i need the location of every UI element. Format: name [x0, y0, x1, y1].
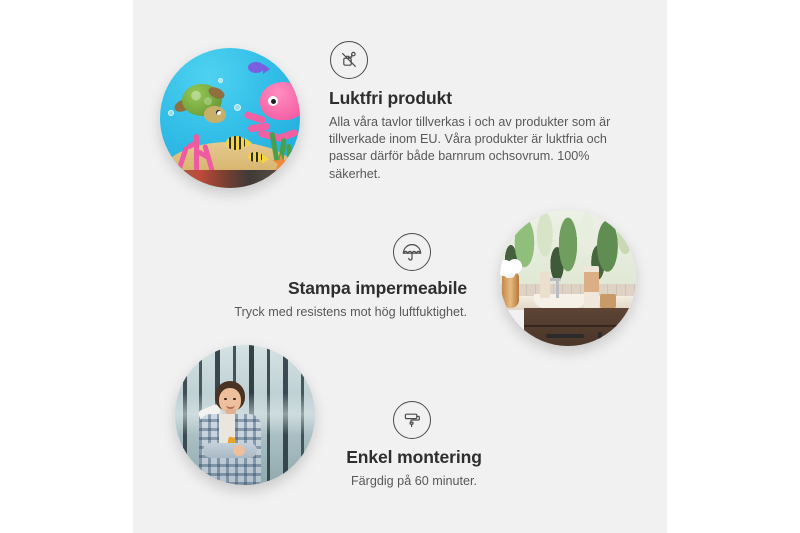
- leaf-wallpaper: [500, 210, 636, 292]
- product-photo-underwater: [160, 48, 300, 188]
- folded-towel: [600, 294, 616, 308]
- feature-odor-free: Luktfri produkt Alla våra tavlor tillver…: [329, 41, 629, 183]
- product-photo-bathroom: [500, 210, 636, 346]
- faucet-icon: [556, 278, 559, 298]
- feature-title: Enkel montering: [309, 447, 519, 468]
- umbrella-icon: [393, 233, 431, 271]
- flowers-icon: [500, 258, 523, 278]
- bathroom-scene: [500, 210, 636, 346]
- feature-easy-mounting: Enkel montering Färgdig på 60 minuter.: [309, 401, 519, 490]
- painter-scene: [175, 345, 315, 485]
- underwater-scene: [160, 48, 300, 188]
- coral-icon: [176, 130, 218, 174]
- feature-title: Luktfri produkt: [329, 88, 629, 109]
- fish-icon: [248, 152, 263, 162]
- bubble-icon: [218, 78, 223, 83]
- feature-waterproof: Stampa impermeabile Tryck med resistens …: [185, 233, 467, 321]
- icon-row: [329, 41, 629, 79]
- fish-icon: [226, 136, 246, 150]
- fish-icon: [248, 62, 264, 73]
- feature-description: Alla våra tavlor tillverkas i och av pro…: [329, 114, 617, 183]
- feature-description: Tryck med resistens mot hög luftfuktighe…: [185, 304, 467, 321]
- vanity-cabinet: [524, 308, 636, 346]
- soap-bottle: [540, 272, 550, 298]
- product-photo-painter: [175, 345, 315, 485]
- room-foreground: [160, 170, 300, 188]
- decor-bottle: [584, 266, 599, 308]
- turtle-icon: [174, 84, 230, 126]
- icon-row: [185, 233, 467, 271]
- bubble-icon: [234, 104, 241, 111]
- feature-description: Färgdig på 60 minuter.: [309, 473, 519, 490]
- painter-figure: [193, 381, 273, 485]
- icon-row: [309, 401, 519, 439]
- infographic-stage: Luktfri produkt Alla våra tavlor tillver…: [0, 0, 800, 533]
- feature-title: Stampa impermeabile: [185, 278, 467, 299]
- no-spray-bottle-icon: [330, 41, 368, 79]
- paint-roller-icon: [393, 401, 431, 439]
